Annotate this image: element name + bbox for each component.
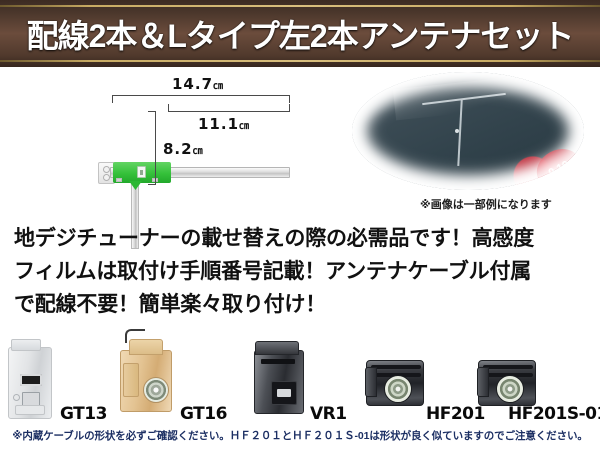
- connector-label-hf201s01: HF201S-01: [508, 404, 600, 424]
- measure-line-leg: [155, 111, 156, 185]
- gt16-clip: [129, 339, 163, 355]
- measure-line-total: [112, 95, 290, 96]
- vr1-face: [271, 381, 297, 405]
- hf201-body: [366, 360, 424, 406]
- photo-caption: ※画像は一部例になります: [420, 196, 590, 212]
- measure-cap-total-left: [112, 95, 113, 103]
- connector-vr1: VR1: [250, 336, 358, 424]
- antenna-diagram: 14.7㎝ 11.1㎝ 8.2㎝: [0, 67, 320, 217]
- connector-label-gt16: GT16: [180, 404, 227, 424]
- measure-cap-arm-left: [168, 104, 169, 112]
- hf201s01-body: [478, 360, 536, 406]
- measure-label-leg: 8.2㎝: [163, 140, 203, 158]
- measure-cap-total-right: [289, 95, 290, 103]
- gt16-latch: [123, 363, 139, 397]
- hf201-left-arm: [365, 367, 377, 397]
- measure-value-leg: 8.2: [163, 140, 193, 158]
- description-line-2: フィルムは取付け手順番号記載！アンテナケーブル付属: [14, 255, 590, 288]
- measure-cap-arm-right: [289, 104, 290, 112]
- page-title: 配線2本＆Lタイプ左2本アンテナセット: [0, 0, 600, 67]
- vr1-body: [254, 350, 304, 414]
- gt13-body: [8, 347, 52, 419]
- hf201-coax-pin: [384, 375, 412, 403]
- measure-label-total: 14.7㎝: [172, 75, 223, 93]
- gt13-port: [20, 374, 42, 386]
- description-line-3: で配線不要！簡単楽々取り付け！: [14, 288, 590, 321]
- gt13-dot: [13, 394, 20, 401]
- connector-types-row: GT13 GT16 VR1: [0, 336, 600, 424]
- hf201-ridge-top: [371, 365, 421, 369]
- connector-gt16: GT16: [118, 336, 236, 424]
- connector-label-gt13: GT13: [60, 404, 107, 424]
- measure-unit-leg: ㎝: [193, 146, 203, 157]
- gt13-tip: [11, 339, 41, 351]
- footer-note: ※内蔵ケーブルの形状を必ずご確認ください。ＨＦ２０１とＨＦ２０１Ｓ-01は形状が…: [0, 428, 600, 443]
- eyelet-icon: [103, 174, 110, 181]
- connector-label-vr1: VR1: [310, 404, 347, 424]
- photo-vignette: [352, 72, 584, 190]
- description-block: 地デジチューナーの載せ替えの際の必需品です！高感度 フィルムは取付け手順番号記載…: [14, 222, 590, 321]
- measure-value-arm: 11.1: [198, 115, 239, 133]
- gt16-coax-pin: [143, 377, 169, 403]
- hf201s01-coax-pin: [496, 375, 524, 403]
- vr1-top-wing: [255, 341, 299, 355]
- gt16-body: [120, 350, 172, 412]
- vr1-slot: [261, 359, 295, 364]
- product-banner: 配線2本＆Lタイプ左2本アンテナセット 14.7㎝ 11.1㎝: [0, 0, 600, 450]
- connector-hf201s01: HF201S-01: [478, 336, 600, 424]
- gt13-port-secondary: [22, 392, 40, 406]
- hf201s01-left-arm: [477, 367, 489, 397]
- banner-header: 配線2本＆Lタイプ左2本アンテナセット: [0, 0, 600, 67]
- measure-line-arm: [168, 111, 290, 112]
- measure-cap-leg-top: [148, 111, 156, 112]
- film-chip-marker: [137, 166, 146, 178]
- installation-photo: 9 10: [352, 72, 584, 190]
- film-tab-left: [116, 178, 122, 182]
- measure-value-total: 14.7: [172, 75, 213, 93]
- measure-label-arm: 11.1㎝: [198, 115, 249, 133]
- measure-unit-total: ㎝: [213, 81, 223, 92]
- measure-unit-arm: ㎝: [239, 121, 249, 132]
- gt13-foot: [15, 405, 45, 415]
- measure-cap-leg-bottom: [148, 184, 156, 185]
- connector-gt13: GT13: [4, 336, 114, 424]
- eyelet-icon: [103, 166, 110, 173]
- hf201s01-ridge-top: [483, 365, 533, 369]
- connector-hf201: HF201: [366, 336, 484, 424]
- description-line-1: 地デジチューナーの載せ替えの際の必需品です！高感度: [14, 222, 590, 255]
- connector-label-hf201: HF201: [426, 404, 485, 424]
